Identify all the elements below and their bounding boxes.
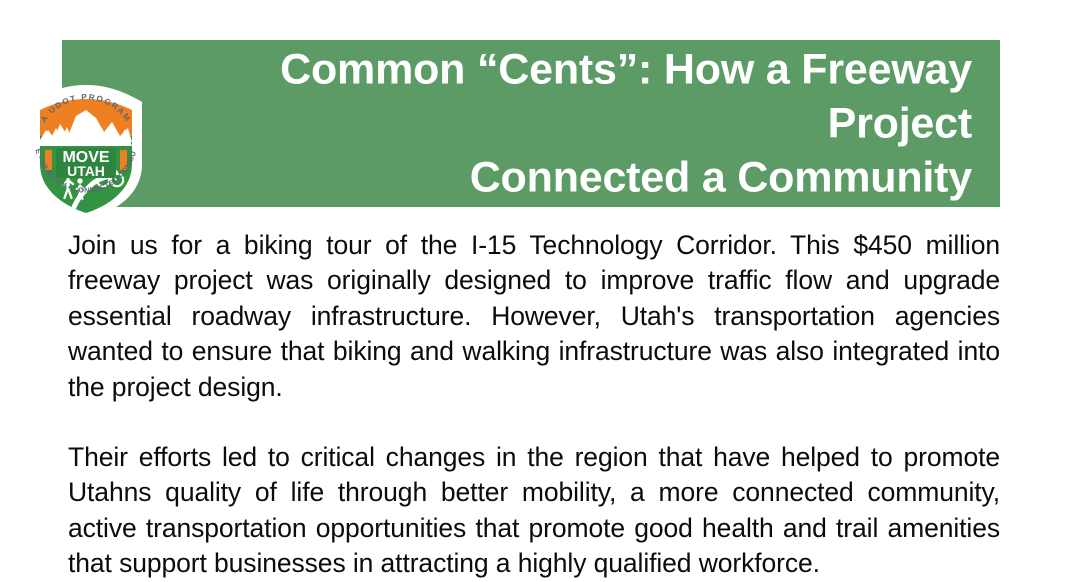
paragraph-spacer [68,405,1000,440]
page-title-line-1: Common “Cents”: How a Freeway Project [280,45,972,147]
body-copy: Join us for a biking tour of the I-15 Te… [68,228,1000,582]
flyer-page: Common “Cents”: How a Freeway Project Co… [0,0,1068,580]
header-banner: Common “Cents”: How a Freeway Project Co… [62,40,1000,207]
move-utah-logo: MOVE UTAH A UDOT PROGRAM ACTIVE • HEALTH… [24,80,148,218]
logo-wordmark-utah: UTAH [67,163,105,179]
paragraph-2: Their efforts led to critical changes in… [68,440,1000,582]
paragraph-1: Join us for a biking tour of the I-15 Te… [68,228,1000,405]
page-title: Common “Cents”: How a Freeway Project Co… [152,42,972,205]
page-title-line-2: Connected a Community [470,154,972,202]
